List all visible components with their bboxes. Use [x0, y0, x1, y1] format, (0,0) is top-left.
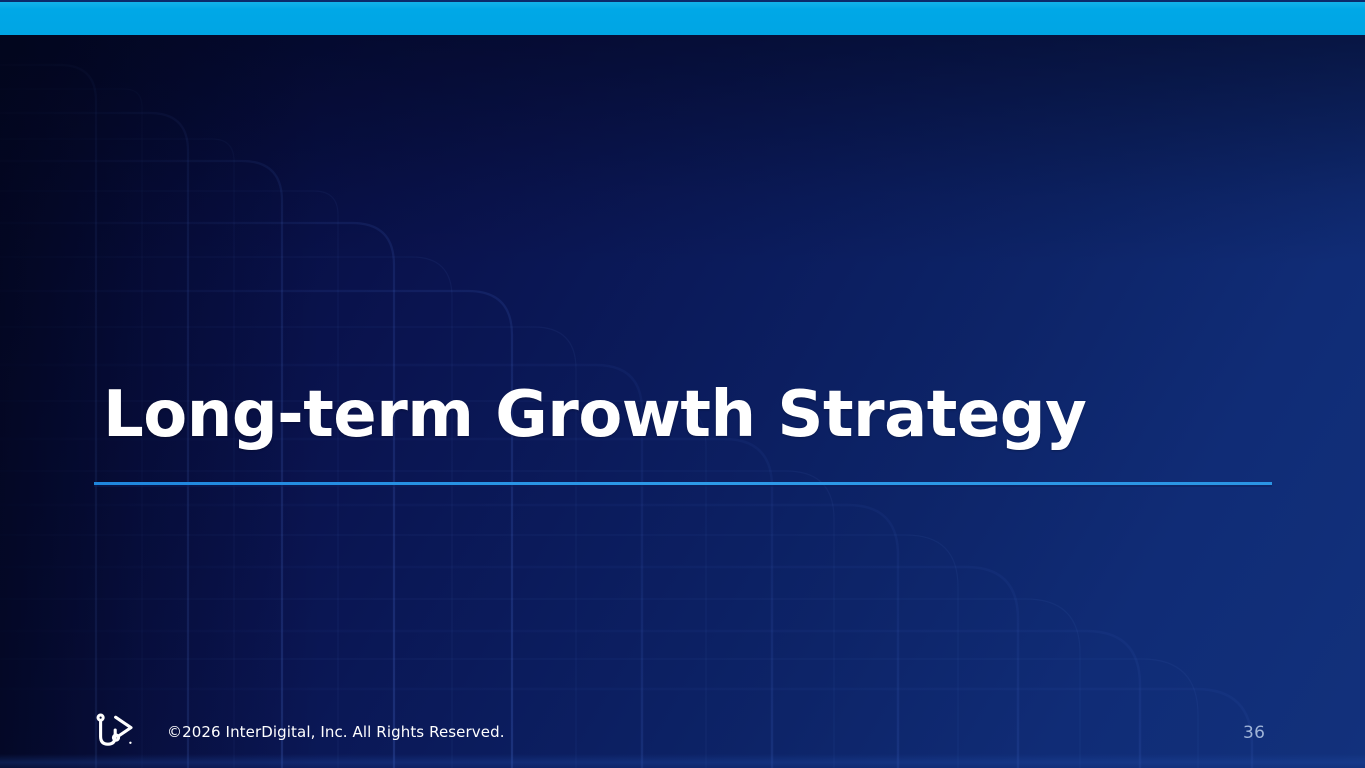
- interdigital-logo-icon: [93, 711, 137, 753]
- title-rule-shadow: [94, 485, 1272, 487]
- page-number: 36: [1243, 723, 1265, 743]
- copyright-notice: ©2026 InterDigital, Inc. All Rights Rese…: [167, 723, 505, 741]
- top-accent-bar: [0, 2, 1365, 35]
- page-title: Long-term Growth Strategy: [103, 382, 1086, 449]
- presentation-slide: Long-term Growth Strategy ©2026 InterDig…: [0, 0, 1365, 768]
- logo-mark-svg: [93, 711, 137, 753]
- background-bottom-band: [0, 754, 1365, 768]
- title-accent-rule: [94, 482, 1272, 485]
